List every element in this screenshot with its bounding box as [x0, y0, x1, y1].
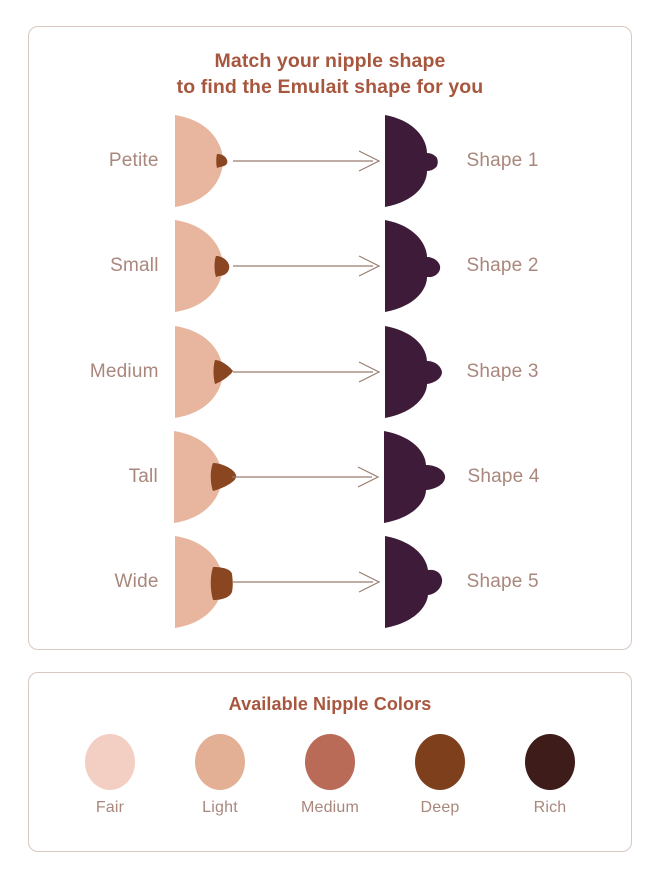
table-row: Wide Sh [29, 531, 631, 633]
color-swatch-strip: Fair Light Medium Deep Rich [29, 721, 631, 837]
nipple-shape-label: Small [29, 255, 173, 277]
color-label: Rich [534, 799, 567, 817]
color-label: Fair [96, 799, 124, 817]
bottle-teat-shape-4 [382, 429, 448, 525]
match-arrow-2 [233, 255, 383, 277]
color-dot [415, 734, 465, 790]
nipple-shape-label: Medium [29, 361, 173, 383]
nipple-shape-guide-page: Match your nipple shape to find the Emul… [0, 0, 660, 879]
match-arrow-4 [232, 466, 382, 488]
shape-match-title-line2: to find the Emulait shape for you [177, 75, 484, 101]
emulait-shape-label: Shape 3 [447, 361, 631, 383]
color-swatch-fair[interactable]: Fair [64, 734, 156, 817]
color-dot [305, 734, 355, 790]
table-row: Medium [29, 321, 631, 423]
available-colors-card: Available Nipple Colors Fair Light Mediu… [28, 672, 632, 852]
breast-illustration-small [173, 218, 233, 314]
emulait-shape-label: Shape 2 [447, 255, 631, 277]
nipple-shape-label: Wide [29, 571, 173, 593]
emulait-shape-label: Shape 5 [447, 571, 631, 593]
color-label: Light [202, 799, 238, 817]
color-swatch-medium[interactable]: Medium [284, 734, 376, 817]
color-dot [525, 734, 575, 790]
match-arrow-5 [233, 571, 383, 593]
nipple-shape-label: Petite [29, 150, 173, 172]
table-row: Petite [29, 110, 631, 212]
breast-illustration-tall [172, 429, 232, 525]
emulait-shape-label: Shape 4 [448, 466, 632, 488]
shape-match-card: Match your nipple shape to find the Emul… [28, 26, 632, 650]
breast-illustration-wide [173, 534, 233, 630]
emulait-shape-label: Shape 1 [447, 150, 631, 172]
breast-illustration-petite [173, 113, 233, 209]
shape-match-title-line1: Match your nipple shape [177, 49, 484, 75]
color-swatch-deep[interactable]: Deep [394, 734, 486, 817]
bottle-teat-shape-2 [383, 218, 447, 314]
shape-match-rows: Petite [29, 100, 631, 639]
match-arrow-1 [233, 150, 383, 172]
shape-match-title: Match your nipple shape to find the Emul… [177, 49, 484, 100]
breast-illustration-medium [173, 324, 233, 420]
nipple-shape-label: Tall [29, 466, 172, 488]
match-arrow-3 [233, 361, 383, 383]
color-label: Medium [301, 799, 359, 817]
color-label: Deep [420, 799, 459, 817]
color-dot [85, 734, 135, 790]
color-swatch-rich[interactable]: Rich [504, 734, 596, 817]
available-colors-title: Available Nipple Colors [29, 693, 631, 717]
bottle-teat-shape-5 [383, 534, 447, 630]
table-row: Tall Sh [29, 426, 631, 528]
bottle-teat-shape-3 [383, 324, 447, 420]
bottle-teat-shape-1 [383, 113, 447, 209]
color-swatch-light[interactable]: Light [174, 734, 266, 817]
table-row: Small S [29, 215, 631, 317]
color-dot [195, 734, 245, 790]
